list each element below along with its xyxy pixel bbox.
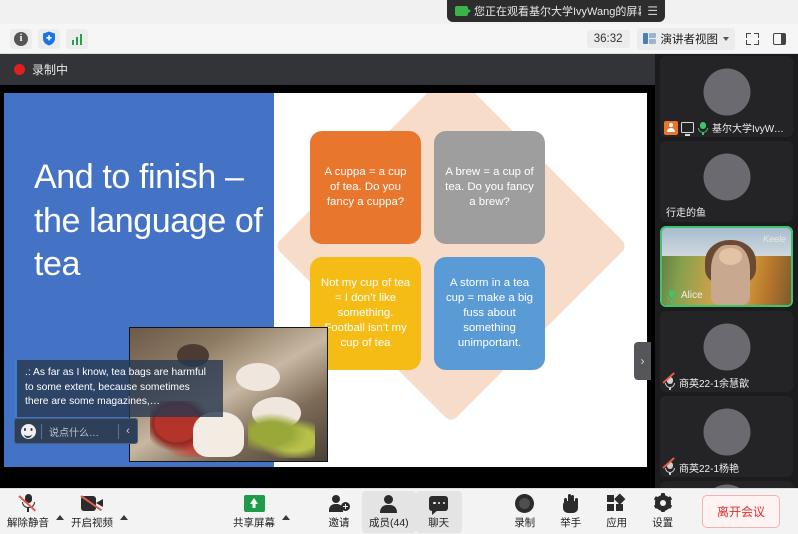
video-watermark: Keele <box>763 234 786 244</box>
invite-button-label: 邀请 <box>329 515 350 530</box>
avatar <box>703 323 750 370</box>
microphone-muted-icon <box>664 376 676 390</box>
share-screen-icon <box>244 495 265 512</box>
participant-name: 行走的鱼 <box>666 204 706 219</box>
video-options-chevron-up-icon[interactable] <box>120 515 128 520</box>
audio-options-chevron-up-icon[interactable] <box>56 515 64 520</box>
settings-button[interactable]: 设置 <box>640 491 686 533</box>
chevron-left-icon[interactable]: ‹ <box>119 425 137 437</box>
participant-tile-active-speaker[interactable]: Keele Alice <box>660 226 793 307</box>
chat-button[interactable]: 聊天 <box>416 491 462 533</box>
host-badge-icon <box>664 121 678 135</box>
side-panel-icon <box>773 33 786 45</box>
idiom-box-cuppa: A cuppa = a cup of tea. Do you fancy a c… <box>310 131 421 244</box>
chevron-down-icon <box>723 37 729 41</box>
sidebar-collapse-handle[interactable]: › <box>634 342 651 380</box>
live-caption-bubble: .: As far as I know, tea bags are harmfu… <box>14 360 223 417</box>
start-video-button[interactable]: 开启视频 <box>64 491 120 533</box>
camera-off-icon <box>81 496 103 511</box>
participant-video-strip[interactable]: 基尔大学IvyWan… 行走的鱼 Keele Alice 商英22-1余慧歆 <box>655 54 798 488</box>
recording-dot-icon <box>14 64 25 75</box>
screen-share-icon <box>455 6 468 16</box>
top-toolbar-right: 36:32 演讲者视图 <box>587 28 798 50</box>
view-mode-selector[interactable]: 演讲者视图 <box>637 28 736 50</box>
idiom-grid: A cuppa = a cup of tea. Do you fancy a c… <box>310 131 593 369</box>
idiom-box-storm-in-a-teacup: A storm in a tea cup = make a big fuss a… <box>434 257 545 370</box>
slide-diagram-panel: A cuppa = a cup of tea. Do you fancy a c… <box>274 93 647 467</box>
presentation-slide: And to finish – the language of tea A cu… <box>4 93 647 467</box>
meeting-timer: 36:32 <box>587 30 630 48</box>
microphone-muted-icon <box>664 461 676 475</box>
participant-tile[interactable]: 行走的鱼 <box>660 141 793 222</box>
meeting-control-bar: 解除静音 开启视频 共享屏幕 邀请 成员(44) <box>0 488 798 534</box>
participant-name: 基尔大学IvyWan… <box>712 120 789 135</box>
microphone-on-icon <box>666 289 678 303</box>
apps-button[interactable]: 应用 <box>594 491 640 533</box>
screen-share-banner-text: 您正在观看基尔大学IvyWang的屏幕 <box>474 3 641 19</box>
participant-tile[interactable]: 商英22-1杨艳 <box>660 396 793 477</box>
more-options-icon[interactable]: ☰ <box>647 4 657 18</box>
top-toolbar: i 36:32 演讲者视图 <box>0 24 798 54</box>
participant-name: Alice <box>681 290 703 301</box>
raise-hand-icon <box>562 494 579 513</box>
participant-name-row: 商英22-1杨艳 <box>660 458 793 477</box>
participant-name: 商英22-1杨艳 <box>679 460 739 475</box>
participant-name-row: 基尔大学IvyWan… <box>660 118 793 137</box>
participant-name-row: Alice <box>662 286 791 305</box>
apps-button-label: 应用 <box>606 515 627 530</box>
unmute-button[interactable]: 解除静音 <box>0 491 56 533</box>
shield-icon <box>42 31 56 46</box>
video-control-group: 开启视频 <box>64 491 128 533</box>
participants-button[interactable]: 成员(44) <box>362 491 416 533</box>
start-video-button-label: 开启视频 <box>71 515 113 530</box>
screen-share-icon <box>681 122 694 133</box>
invite-button[interactable]: 邀请 <box>316 491 362 533</box>
screen-share-banner[interactable]: 您正在观看基尔大学IvyWang的屏幕 ☰ <box>447 0 665 22</box>
fullscreen-button[interactable] <box>742 29 762 49</box>
view-mode-label: 演讲者视图 <box>661 31 719 47</box>
video-subject-face <box>719 248 742 265</box>
leave-meeting-button[interactable]: 离开会议 <box>702 495 780 528</box>
emoji-smiley-icon[interactable] <box>15 424 41 439</box>
raise-hand-button[interactable]: 举手 <box>548 491 594 533</box>
network-quality-button[interactable] <box>66 29 88 49</box>
microphone-muted-icon <box>20 493 37 513</box>
speaker-view-icon <box>643 33 656 44</box>
gear-icon <box>654 494 672 512</box>
chat-bubble-icon <box>429 496 448 511</box>
quick-chat-bar[interactable]: 说点什么… ‹ <box>14 418 138 444</box>
avatar <box>703 408 750 455</box>
audio-control-group: 解除静音 <box>0 491 64 533</box>
record-button-label: 录制 <box>514 515 535 530</box>
top-toolbar-left: i <box>0 29 88 49</box>
side-panel-button[interactable] <box>769 29 789 49</box>
participant-tile[interactable]: 商英22-1余慧歆 <box>660 311 793 392</box>
zoom-meeting-window: 您正在观看基尔大学IvyWang的屏幕 ☰ i 36:32 演讲者视图 <box>0 0 798 534</box>
share-screen-button-label: 共享屏幕 <box>233 515 275 530</box>
record-icon <box>515 494 534 513</box>
participant-name: 商英22-1余慧歆 <box>679 375 749 390</box>
participants-button-label: 成员(44) <box>369 515 409 530</box>
shared-screen-area: And to finish – the language of tea A cu… <box>0 85 655 488</box>
meeting-info-button[interactable]: i <box>10 29 32 49</box>
signal-strength-icon <box>72 33 83 45</box>
info-icon: i <box>14 32 28 46</box>
participant-name-row: 商英22-1余慧歆 <box>660 373 793 392</box>
record-button[interactable]: 录制 <box>502 491 548 533</box>
share-control-group: 共享屏幕 <box>226 491 290 533</box>
participants-icon <box>379 495 398 512</box>
participant-tile-partial[interactable]: ⌄ <box>660 481 793 488</box>
avatar <box>703 153 750 200</box>
share-options-chevron-up-icon[interactable] <box>282 515 290 520</box>
slide-title: And to finish – the language of tea <box>34 156 270 287</box>
avatar <box>703 68 750 115</box>
quick-chat-input[interactable]: 说点什么… <box>42 424 118 439</box>
participant-tile-host[interactable]: 基尔大学IvyWan… <box>660 56 793 137</box>
idiom-box-brew: A brew = a cup of tea. Do you fancy a br… <box>434 131 545 244</box>
fullscreen-icon <box>746 33 759 45</box>
recording-status-bar: 录制中 <box>0 54 655 85</box>
microphone-on-icon <box>697 121 709 135</box>
share-screen-button[interactable]: 共享屏幕 <box>226 491 282 533</box>
invite-person-icon <box>329 495 349 512</box>
unmute-button-label: 解除静音 <box>7 515 49 530</box>
recording-status-label: 录制中 <box>32 61 68 78</box>
raise-hand-button-label: 举手 <box>560 515 581 530</box>
security-button[interactable] <box>38 29 60 49</box>
settings-button-label: 设置 <box>652 515 673 530</box>
chat-button-label: 聊天 <box>428 515 449 530</box>
apps-grid-icon <box>607 495 626 512</box>
